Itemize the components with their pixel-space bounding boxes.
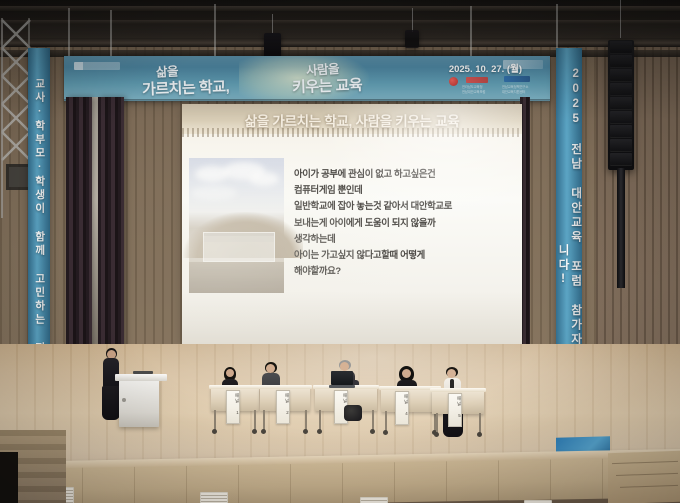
panel-table-1-top [209, 385, 261, 389]
ceiling-pipe [110, 10, 112, 58]
table-caster [261, 429, 266, 434]
placard-name: 패널 2 [277, 393, 289, 416]
table-leg [479, 413, 481, 434]
banner-chip-host [466, 77, 488, 83]
bag-on-floor [344, 405, 362, 421]
slide-body-text: 아이가 공부에 관심이 없고 하고싶은건 컴퓨터게임 뿐인데 일반학교에 잡아 … [294, 166, 516, 279]
podium-logo-icon [122, 398, 126, 402]
podium-microphone-icon [133, 371, 153, 374]
organizer-logo-icon [74, 62, 120, 70]
table-leg [385, 411, 387, 432]
stage-left-shadow [0, 452, 18, 503]
stage-vent-icon [360, 497, 388, 503]
podium [119, 379, 159, 427]
banner-date: 2025. 10. 27. (월) [449, 61, 522, 75]
banner-title-line2: 가르치는 학교, [142, 75, 230, 99]
laptop-base [329, 385, 355, 388]
placard-name: 패널 4 [396, 394, 408, 417]
ceiling-pipe [214, 4, 216, 60]
speaker-wire [620, 0, 621, 38]
table-caster [434, 432, 439, 437]
table-leg [214, 410, 216, 431]
banner-chip-organizer [504, 76, 530, 82]
table-leg [319, 410, 321, 431]
name-placard: 패널 5 [448, 393, 462, 427]
table-caster [370, 429, 375, 434]
ceiling-rail [0, 38, 680, 47]
panel-table-2-top [258, 385, 312, 389]
banner-emblem-icon [449, 77, 458, 86]
projection-screen: 삶을 가르치는 학교, 사람을 키우는 교육 아이가 공부에 관심이 없고 하고… [182, 104, 522, 344]
laptop-icon [331, 371, 353, 385]
speaker-wire [272, 14, 273, 34]
ceiling-beam [0, 6, 680, 11]
auditorium-photo: 삶을 가르치는 학교, 사람을 키우는 교육 2025. 10. 27. (월)… [0, 0, 680, 503]
stage-steps [608, 451, 680, 503]
slide-title: 삶을 가르치는 학교, 사람을 키우는 교육 [182, 110, 522, 130]
table-leg [254, 410, 256, 431]
table-caster [252, 429, 257, 434]
line-array-speaker-icon [608, 40, 634, 170]
ceiling-pipe [68, 8, 70, 60]
slide-photo [189, 158, 284, 293]
table-leg [372, 410, 374, 431]
stage-curtain-left [66, 97, 92, 357]
table-leg [436, 413, 438, 434]
stage-curtain-left-inner [98, 97, 124, 359]
table-caster [383, 430, 388, 435]
banner-host-note: 전라남도교육청 전남대안교육포럼 [462, 85, 492, 95]
panel-table-5-top [430, 388, 486, 392]
table-caster [212, 429, 217, 434]
table-leg [305, 410, 307, 431]
name-placard: 패널 1 [226, 390, 240, 424]
banner-title: 삶을 가르치는 학교, 사람을 키우는 교육 [120, 57, 420, 101]
stage-banner: 삶을 가르치는 학교, 사람을 키우는 교육 2025. 10. 27. (월)… [64, 56, 550, 101]
stage-vent-icon [200, 492, 228, 503]
podium-top-surface [115, 374, 167, 381]
placard-name: 패널 1 [227, 393, 239, 416]
ceiling-speaker-icon [405, 30, 419, 48]
placard-name: 패널 5 [449, 396, 461, 419]
name-placard: 패널 2 [276, 390, 290, 424]
table-caster [303, 429, 308, 434]
banner-shadow [64, 99, 550, 103]
speaker-pole [617, 168, 625, 288]
table-leg [263, 410, 265, 431]
table-caster [317, 429, 322, 434]
banner-organizer-note: 전남교육정책연구소 대안교육지원센터 [502, 85, 534, 95]
name-placard: 패널 4 [395, 391, 409, 425]
ceiling-beam [0, 20, 680, 24]
speaker-wire [412, 8, 413, 32]
table-caster [477, 432, 482, 437]
banner-title-line4: 키우는 교육 [292, 74, 363, 97]
ceiling-pipe [556, 4, 558, 54]
ceiling-pipe [470, 6, 472, 60]
